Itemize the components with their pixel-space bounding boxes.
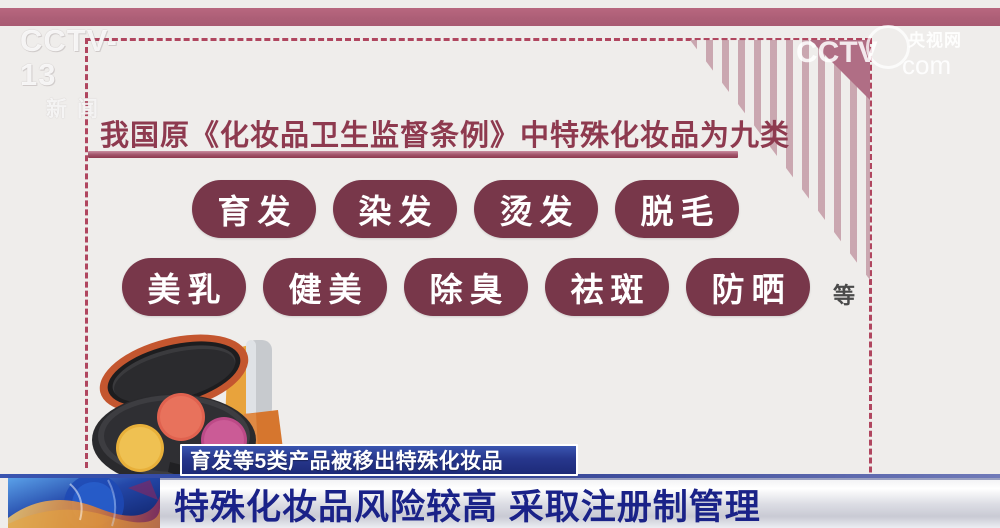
category-suffix-label: 等 [833,278,855,310]
lower-third-subheadline-banner: 育发等5类产品被移出特殊化妆品 [180,444,578,476]
slide-heading: 我国原《化妆品卫生监督条例》中特殊化妆品为九类 [100,112,790,154]
category-pill: 祛斑 [545,258,669,316]
stripe-decoration [690,40,870,280]
category-pill: 脱毛 [615,180,739,238]
lower-third-subheadline: 育发等5类产品被移出特殊化妆品 [190,445,503,475]
category-pill: 烫发 [474,180,598,238]
lower-third-headline: 特殊化妆品风险较高 采取注册制管理 [174,479,761,528]
top-accent-bar [0,8,1000,26]
category-row-2: 美乳 健美 除臭 祛斑 防晒 等 [122,258,855,316]
watermark-cn-text: 央视网 [908,26,962,51]
category-pill: 染发 [333,180,457,238]
category-pill: 育发 [192,180,316,238]
category-pill: 美乳 [122,258,246,316]
category-pill: 健美 [263,258,387,316]
category-pill: 防晒 [686,258,810,316]
news-globe-graphic [8,478,160,528]
watermark-ring-icon [866,25,910,69]
category-row-1: 育发 染发 烫发 脱毛 [192,180,739,238]
watermark-com-text: com [902,50,951,81]
category-pill: 除臭 [404,258,528,316]
broadcast-screen: CCTV-13 新闻 CCTV 央视网 com 我国原《化妆品卫生监督条例》中特… [0,0,1000,528]
lower-third-headline-banner: 特殊化妆品风险较高 采取注册制管理 [160,478,1000,528]
heading-underline [88,151,738,158]
